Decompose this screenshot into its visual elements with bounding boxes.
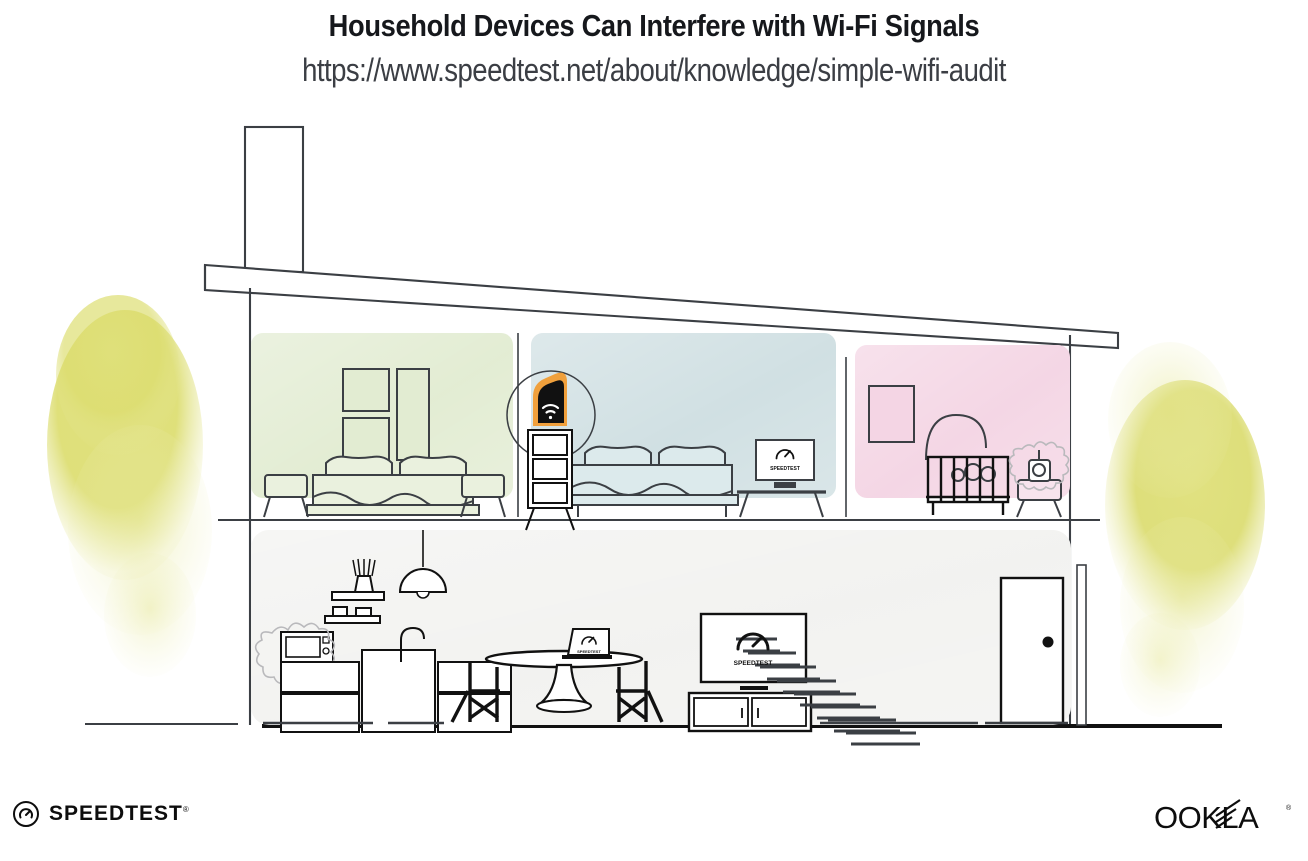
door-knob	[1043, 637, 1054, 648]
room-blue: SPEEDTEST	[531, 333, 836, 517]
speedtest-gauge-icon	[12, 800, 40, 828]
foliage-left	[47, 295, 212, 677]
room-pink	[855, 345, 1070, 517]
wall-frame	[343, 418, 389, 460]
ookla-logo: OOKLA ®	[1154, 796, 1308, 847]
house-illustration: SPEEDTEST	[0, 105, 1308, 755]
ookla-wordmark-text: OOKLA	[1154, 800, 1259, 835]
speedtest-wordmark: SPEEDTEST®	[49, 802, 190, 826]
room-green	[251, 333, 513, 517]
tv-screen-label: SPEEDTEST	[734, 660, 773, 667]
foliage-right	[1105, 342, 1265, 717]
tv-panel	[701, 614, 806, 682]
tv-stand-neck	[740, 686, 768, 690]
ookla-trademark: ®	[1286, 804, 1292, 812]
page-url: https://www.speedtest.net/about/knowledg…	[92, 52, 1217, 89]
room-lower	[251, 530, 1071, 744]
laptop-screen-label: SPEEDTEST	[577, 649, 601, 654]
tv-area	[689, 614, 811, 731]
wall-frame	[869, 386, 914, 442]
speedtest-logo: SPEEDTEST®	[12, 800, 190, 828]
bed	[566, 447, 738, 517]
microwave	[281, 632, 333, 662]
infographic-page: Household Devices Can Interfere with Wi-…	[0, 0, 1308, 861]
chimney	[245, 127, 303, 272]
bed	[307, 457, 479, 515]
door-panel	[1001, 578, 1063, 723]
ookla-wordmark-icon: OOKLA ®	[1154, 796, 1308, 842]
wall-frame	[343, 369, 389, 411]
door-group	[1001, 578, 1063, 723]
desk-monitor	[756, 440, 814, 487]
downspout	[1077, 565, 1086, 725]
nightstand-left	[264, 475, 308, 517]
trademark-symbol: ®	[183, 805, 190, 814]
monitor-screen-label: SPEEDTEST	[770, 466, 800, 472]
wall-frame	[397, 369, 429, 460]
page-title: Household Devices Can Interfere with Wi-…	[78, 8, 1229, 44]
router-cabinet	[526, 430, 574, 530]
